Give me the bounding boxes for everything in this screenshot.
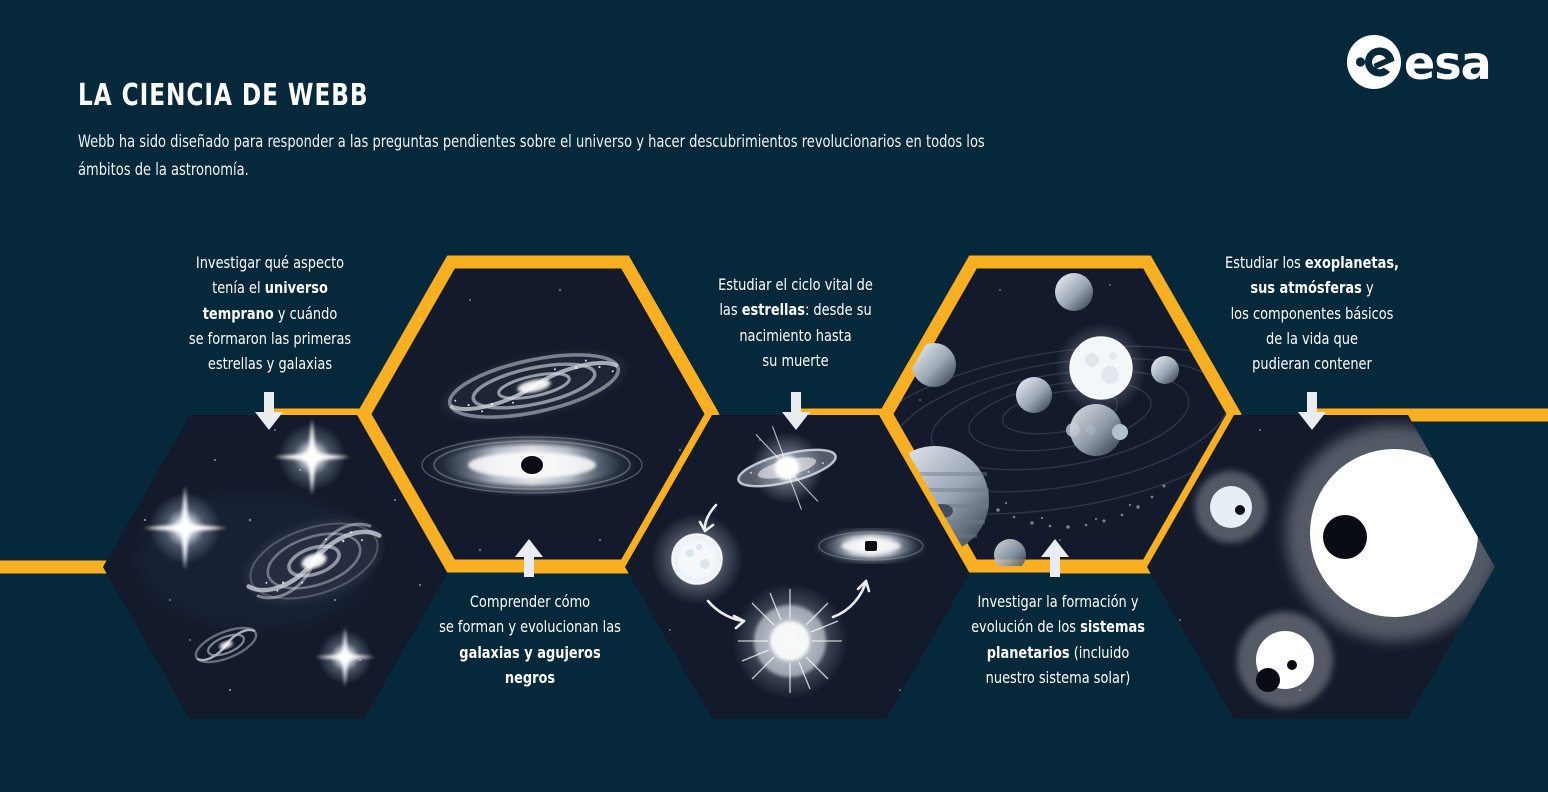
esa-logo[interactable]: esa esa: [1346, 34, 1510, 95]
esa-wordmark: esa: [1404, 36, 1491, 90]
infographic-canvas: LA CIENCIA DE WEBB Webb ha sido diseñado…: [0, 0, 1548, 792]
page-subtitle: Webb ha sido diseñado para responder a l…: [78, 128, 1011, 185]
exoplanet-transit-lower: [1237, 612, 1333, 708]
header: LA CIENCIA DE WEBB Webb ha sido diseñado…: [78, 78, 1138, 185]
caption-early-universe: Investigar qué aspecto tenía el universo…: [162, 250, 378, 376]
esa-roundel-icon: esa: [1346, 34, 1510, 90]
exoplanet-transit-large: [1286, 425, 1502, 641]
caption-stellar-life-cycle: Estudiar el ciclo vital de las estrellas…: [685, 272, 906, 373]
main-sequence-star: [651, 513, 743, 605]
supernova: [732, 583, 848, 699]
caption-galaxies-black-holes: Comprender cómo se forman y evolucionan …: [418, 589, 643, 690]
sun: [1055, 322, 1147, 414]
black-hole-accretion-disc: [422, 437, 642, 493]
planet: [1016, 377, 1052, 413]
caption-planetary-systems: Investigar la formación y evolución de l…: [941, 589, 1175, 690]
black-hole: [815, 531, 927, 561]
planet: [1151, 356, 1179, 384]
planet: [1055, 273, 1093, 311]
caption-exoplanets: Estudiar los exoplanetas, sus atmósferas…: [1191, 250, 1432, 376]
exoplanet-transit-small: [1195, 471, 1267, 543]
page-title: LA CIENCIA DE WEBB: [78, 78, 990, 113]
